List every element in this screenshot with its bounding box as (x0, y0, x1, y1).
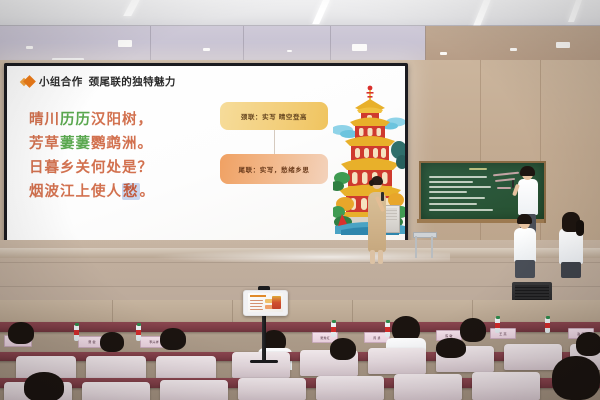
chalk-line (429, 181, 473, 183)
student-seated-right (556, 212, 586, 278)
orange-diamond-icon (21, 76, 35, 88)
downlight (440, 52, 447, 55)
ceiling-seam (425, 26, 426, 62)
auditorium-seat (316, 376, 384, 400)
audience-head (576, 332, 600, 356)
auditorium-seat (238, 378, 306, 400)
student-trousers (515, 260, 535, 278)
presenting-teacher (364, 176, 390, 268)
highlighted-character: 愁 (122, 183, 140, 200)
downlight (118, 40, 132, 47)
ceiling-seam (243, 26, 244, 62)
preview-line (250, 306, 262, 307)
student-trousers (561, 262, 581, 278)
downlight (26, 46, 33, 49)
water-bottle (545, 318, 550, 333)
handheld-microphone (381, 192, 384, 201)
auditorium-seat (368, 348, 426, 374)
audience-head (8, 322, 34, 344)
audience-head (100, 332, 124, 352)
downlight (510, 48, 517, 51)
water-bottle (136, 325, 141, 341)
student-hair (520, 166, 535, 176)
poem-line: 烟波江上使人愁。 (29, 180, 219, 204)
audience-head (552, 356, 600, 400)
student-seated-left (512, 216, 538, 278)
student-uniform (518, 179, 538, 215)
chalk-annotation (497, 187, 511, 189)
audience-head (160, 328, 186, 350)
student-hair (517, 214, 532, 224)
water-bottle (495, 318, 500, 333)
led-display-bezel: 小组合作颈尾联的独特魅力 晴川历历汉阳树， 芳草萋萋鹦鹉洲。 日暮乡关何处是？ … (4, 63, 408, 247)
ceiling-lower-right (425, 26, 600, 62)
tail-couplet-callout[interactable]: 尾联：实写，愁绪乡思 (220, 154, 328, 184)
chalk-line (429, 203, 477, 205)
smartphone-recorder[interactable] (243, 290, 288, 316)
water-bottle (331, 322, 336, 337)
stage-floor-seam (0, 286, 600, 287)
handheld-microphone (512, 180, 514, 188)
auditorium-seat (472, 372, 540, 400)
ceiling-upper (0, 0, 600, 28)
downlight (287, 50, 292, 52)
slide-title-row: 小组合作颈尾联的独特魅力 (21, 74, 176, 89)
auditorium-seat (82, 382, 150, 400)
audience-head (460, 318, 486, 342)
stage-floor-seam (0, 262, 600, 263)
classroom-scene: 小组合作颈尾联的独特魅力 晴川历历汉阳树， 芳草萋萋鹦鹉洲。 日暮乡关何处是？ … (0, 0, 600, 400)
auditorium-seat (160, 380, 228, 400)
chalk-line (429, 186, 491, 188)
auditorium-seat (232, 352, 290, 378)
presentation-slide[interactable]: 小组合作颈尾联的独特魅力 晴川历历汉阳树， 芳草萋萋鹦鹉洲。 日暮乡关何处是？ … (7, 66, 405, 244)
neck-couplet-callout[interactable]: 颈联：实写 晴空登高 (220, 102, 328, 130)
chalk-heading (469, 168, 487, 170)
stool-leg (431, 236, 433, 258)
teacher-leg (378, 250, 383, 264)
preview-line (250, 303, 263, 304)
downlight (556, 42, 570, 48)
teacher-hair-bun (369, 180, 374, 186)
auditorium-seat (504, 344, 562, 370)
audience-head (436, 338, 466, 358)
student-uniform (514, 228, 536, 262)
phone-screen-preview (248, 293, 283, 312)
preview-line (250, 300, 263, 301)
ceiling-seam (330, 26, 331, 62)
metal-stool (413, 232, 435, 258)
audience-head (330, 338, 356, 360)
downlight (203, 48, 210, 51)
name-placard: 王 燕 (490, 328, 516, 339)
water-bottle (74, 325, 79, 341)
callout-connector (274, 130, 275, 154)
chalk-line (429, 209, 493, 211)
water-bottle (385, 322, 390, 337)
downlight (352, 44, 367, 51)
ceiling-seam (150, 26, 151, 62)
audience-head (24, 372, 64, 400)
poem-line: 芳草萋萋鹦鹉洲。 (29, 132, 219, 156)
chalk-line (429, 191, 467, 193)
slide-title: 小组合作颈尾联的独特魅力 (39, 74, 176, 89)
preview-pagoda (272, 296, 281, 309)
poem-block: 晴川历历汉阳树， 芳草萋萋鹦鹉洲。 日暮乡关何处是？ 烟波江上使人愁。 (29, 108, 219, 204)
chalk-line (429, 197, 485, 199)
chalk-line (429, 176, 487, 178)
stool-leg (415, 236, 417, 258)
student-ponytail (576, 220, 584, 236)
teacher-leg (370, 250, 375, 264)
auditorium-seat (394, 374, 462, 400)
tripod-feet (250, 360, 278, 363)
poem-line: 日暮乡关何处是？ (29, 156, 219, 180)
preview-line (250, 309, 263, 310)
preview-title-bar (250, 295, 266, 297)
poem-line: 晴川历历汉阳树， (29, 108, 219, 132)
